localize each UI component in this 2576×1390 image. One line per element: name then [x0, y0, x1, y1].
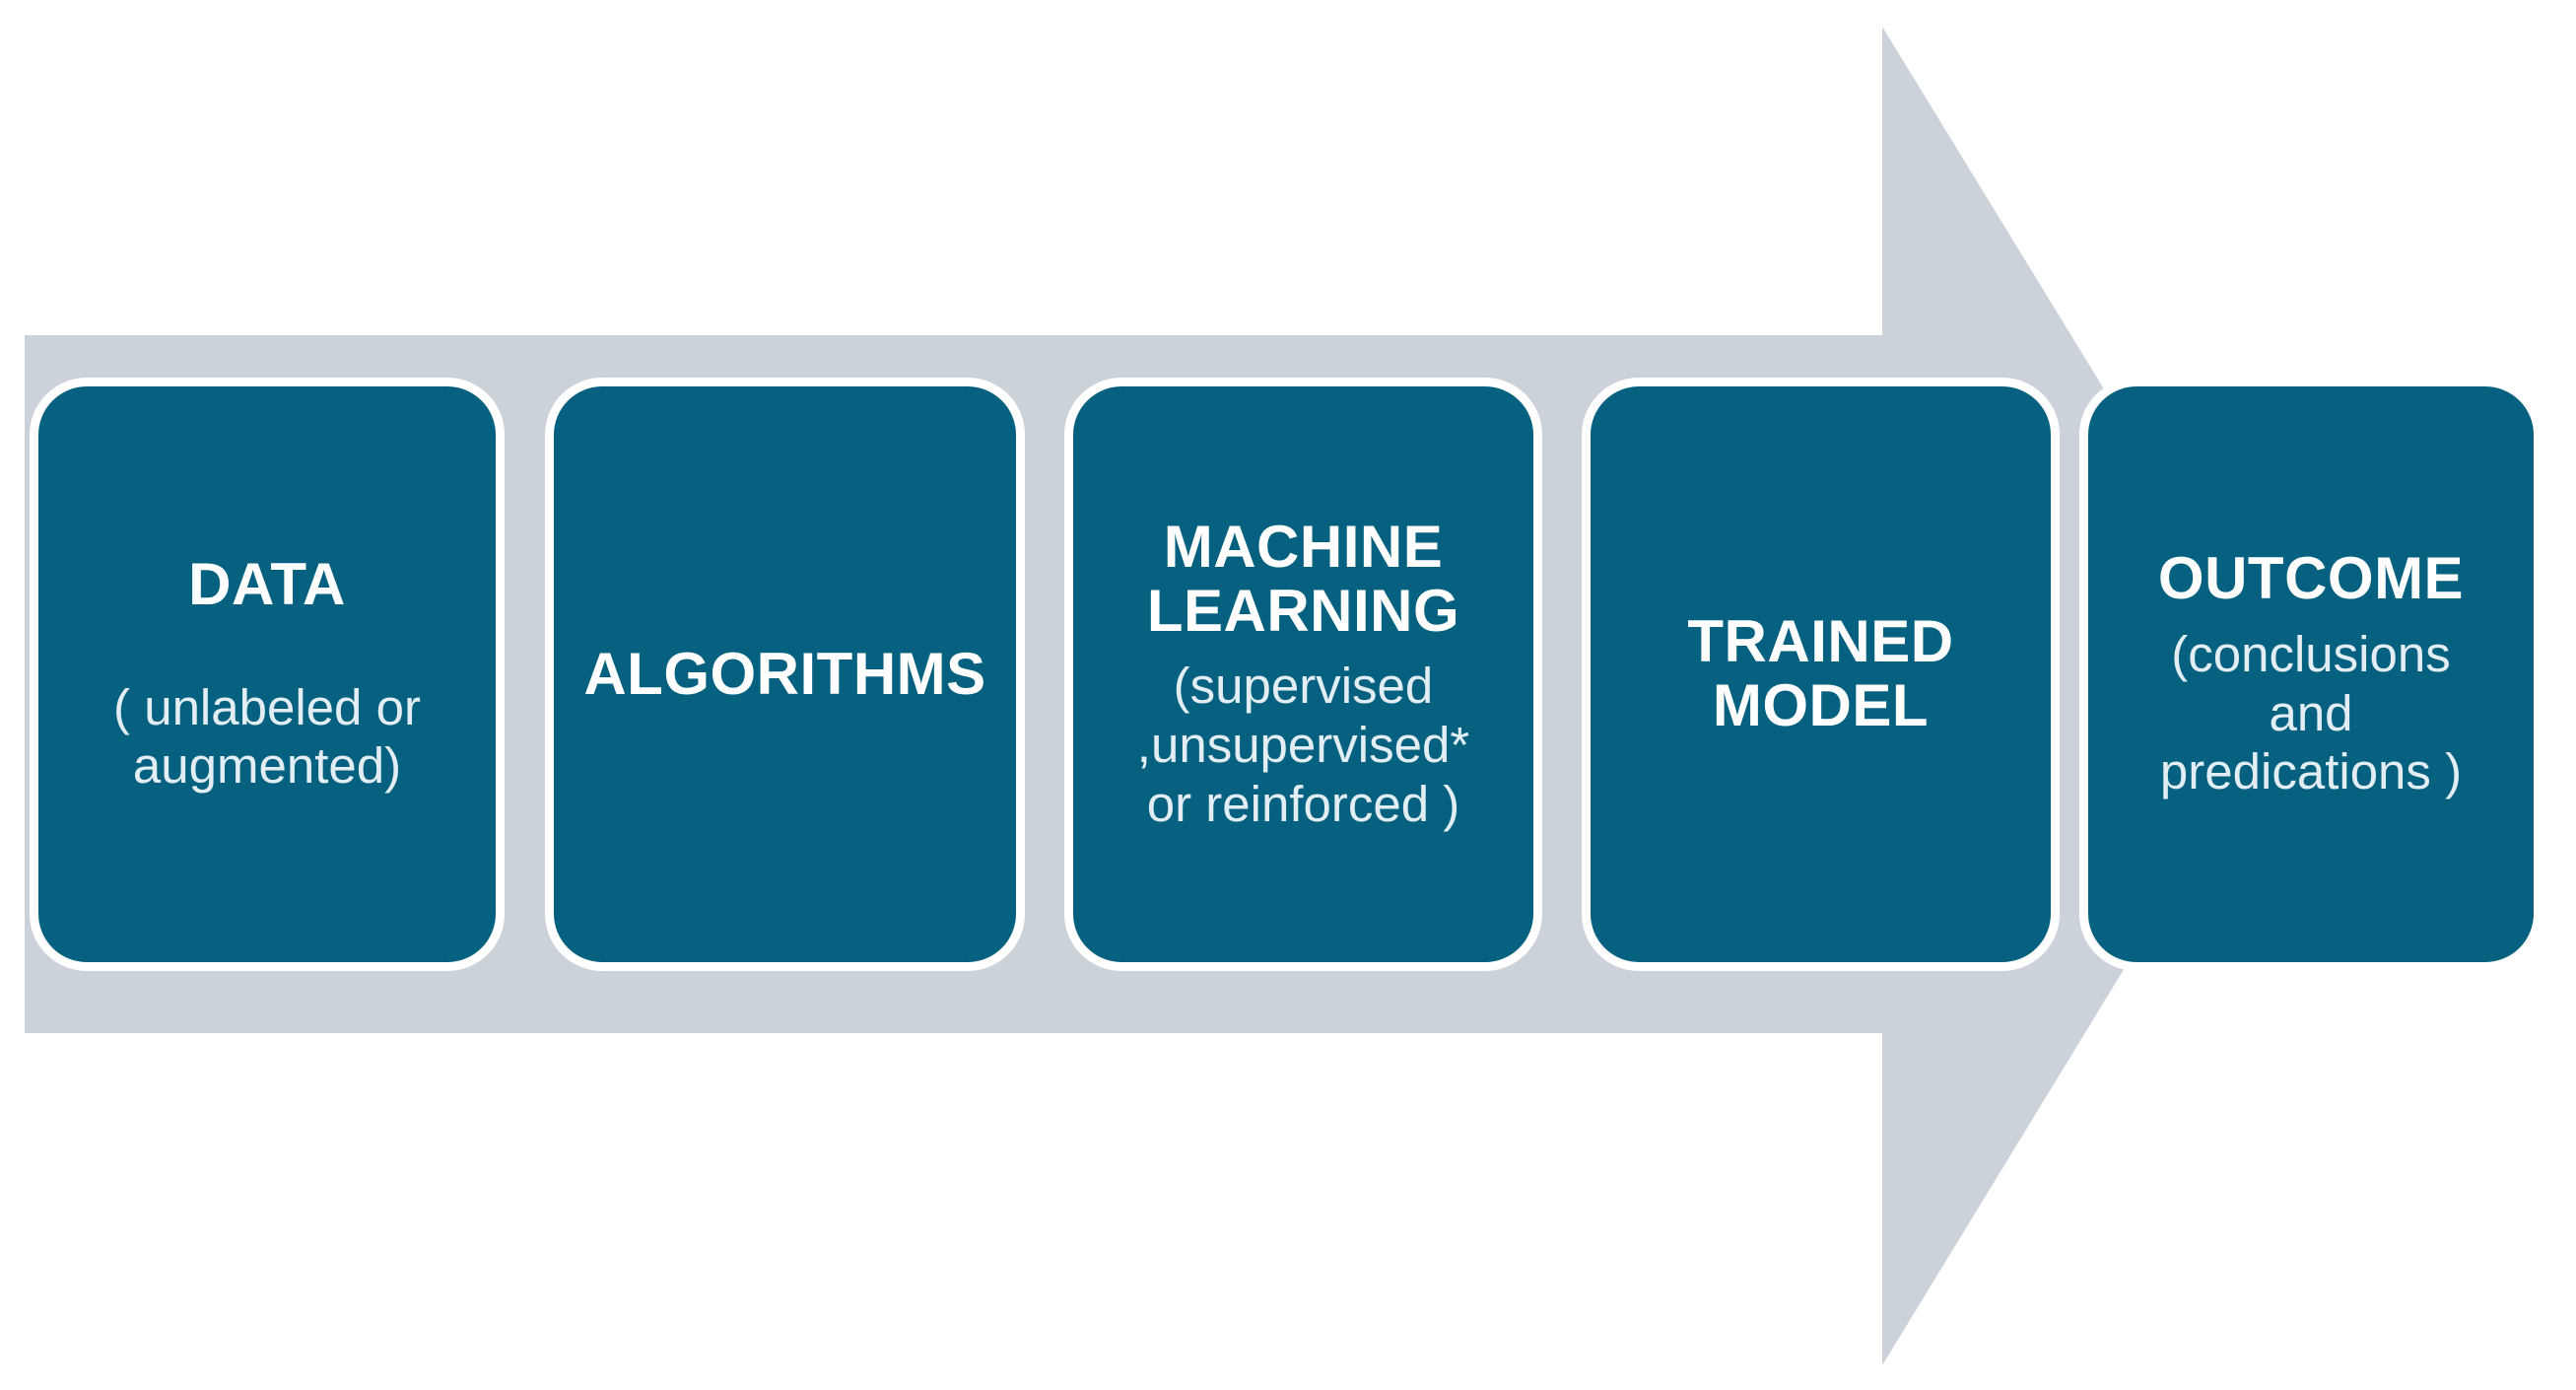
stage-box-machine-learning[interactable]: MACHINE LEARNING (supervised ,unsupervis…	[1064, 378, 1542, 971]
stage-title-data: DATA	[188, 553, 346, 617]
stage-title-machine-learning: MACHINE LEARNING	[1147, 516, 1459, 644]
diagram-canvas: DATA ( unlabeled or augmented) ALGORITHM…	[0, 0, 2576, 1390]
stage-title-outcome: OUTCOME	[2158, 547, 2464, 611]
stage-title-algorithms: ALGORITHMS	[583, 643, 985, 707]
stage-box-row: DATA ( unlabeled or augmented) ALGORITHM…	[0, 378, 2576, 971]
stage-box-trained-model[interactable]: TRAINED MODEL	[1582, 378, 2060, 971]
stage-subtitle-machine-learning: (supervised ,unsupervised* or reinforced…	[1137, 657, 1469, 833]
stage-box-data[interactable]: DATA ( unlabeled or augmented)	[30, 378, 505, 971]
stage-box-outcome[interactable]: OUTCOME (conclusions and predications )	[2079, 378, 2542, 971]
stage-subtitle-data: ( unlabeled or augmented)	[113, 678, 421, 796]
stage-title-trained-model: TRAINED MODEL	[1687, 610, 1953, 738]
stage-subtitle-outcome: (conclusions and predications )	[2160, 625, 2462, 801]
stage-box-algorithms[interactable]: ALGORITHMS	[545, 378, 1025, 971]
